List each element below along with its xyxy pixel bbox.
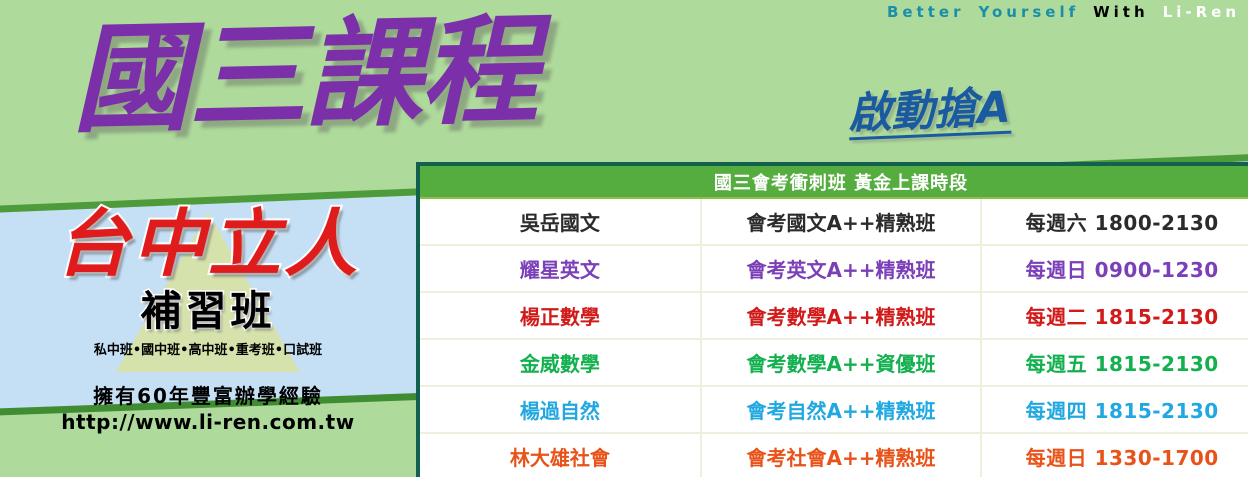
cell-course: 會考國文A++精熟班 (701, 198, 982, 245)
cell-course: 會考數學A++精熟班 (701, 292, 982, 339)
cell-teacher: 耀星英文 (420, 245, 701, 292)
schedule-table-container: 國三會考衝刺班 黃金上課時段 吳岳國文會考國文A++精熟班每週六 1800-21… (416, 162, 1248, 477)
logo-experience-text: 擁有60年豐富辦學經驗 (28, 380, 388, 409)
cell-time: 每週日 0900-1230 (981, 245, 1248, 292)
tagline: BetterYourselfWithLi-Ren (873, 3, 1240, 21)
cell-time: 每週五 1815-2130 (981, 339, 1248, 386)
schedule-table: 國三會考衝刺班 黃金上課時段 吳岳國文會考國文A++精熟班每週六 1800-21… (420, 166, 1248, 477)
page-subtitle: 啟動搶A (847, 73, 1012, 142)
table-row: 楊過自然會考自然A++精熟班每週四 1815-2130 (420, 386, 1248, 433)
cell-teacher: 楊正數學 (420, 292, 701, 339)
cell-teacher: 楊過自然 (420, 386, 701, 433)
page-title: 國三課程 (71, 7, 538, 144)
schedule-header-title: 國三會考衝刺班 黃金上課時段 (420, 166, 1248, 198)
cell-teacher: 林大雄社會 (420, 433, 701, 477)
logo-name-sub: 補習班 (28, 277, 388, 337)
cell-time: 每週六 1800-2130 (981, 198, 1248, 245)
tagline-word-with: With (1093, 3, 1149, 21)
schedule-table-body: 吳岳國文會考國文A++精熟班每週六 1800-2130耀星英文會考英文A++精熟… (420, 198, 1248, 477)
table-row: 吳岳國文會考國文A++精熟班每週六 1800-2130 (420, 198, 1248, 245)
cell-teacher: 吳岳國文 (420, 198, 701, 245)
tagline-word-better: Better (887, 3, 965, 21)
logo-name-main: 台中立人 (28, 208, 388, 281)
table-row: 金威數學會考數學A++資優班每週五 1815-2130 (420, 339, 1248, 386)
table-row: 楊正數學會考數學A++精熟班每週二 1815-2130 (420, 292, 1248, 339)
cell-time: 每週二 1815-2130 (981, 292, 1248, 339)
schedule-header-row: 國三會考衝刺班 黃金上課時段 (420, 166, 1248, 198)
cell-course: 會考英文A++精熟班 (701, 245, 982, 292)
schedule-table-head: 國三會考衝刺班 黃金上課時段 (420, 166, 1248, 198)
tagline-word-yourself: Yourself (978, 3, 1079, 21)
logo-class-list: 私中班•國中班•高中班•重考班•口試班 (28, 339, 388, 358)
poster-root: BetterYourselfWithLi-Ren 國三課程 啟動搶A 台中立人 … (0, 0, 1248, 477)
cell-course: 會考社會A++精熟班 (701, 433, 982, 477)
table-row: 林大雄社會會考社會A++精熟班每週日 1330-1700 (420, 433, 1248, 477)
cell-course: 會考自然A++精熟班 (701, 386, 982, 433)
logo-website-url[interactable]: http://www.li-ren.com.tw (28, 410, 388, 434)
cell-teacher: 金威數學 (420, 339, 701, 386)
cell-time: 每週日 1330-1700 (981, 433, 1248, 477)
tagline-word-liren: Li-Ren (1163, 3, 1240, 21)
school-logo: 台中立人 補習班 私中班•國中班•高中班•重考班•口試班 擁有60年豐富辦學經驗… (28, 208, 388, 434)
table-row: 耀星英文會考英文A++精熟班每週日 0900-1230 (420, 245, 1248, 292)
cell-course: 會考數學A++資優班 (701, 339, 982, 386)
cell-time: 每週四 1815-2130 (981, 386, 1248, 433)
